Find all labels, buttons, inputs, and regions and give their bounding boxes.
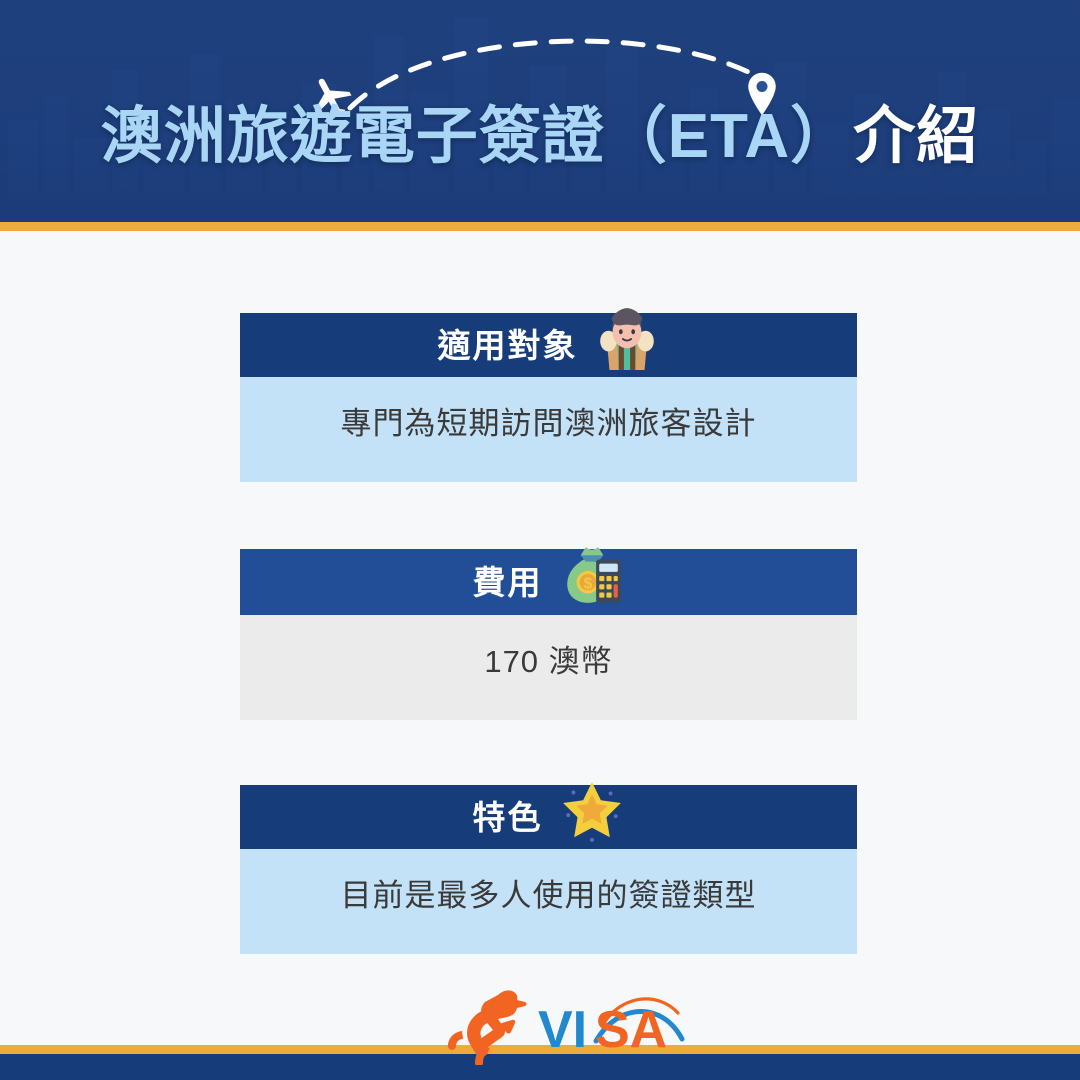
card-feature-body: 目前是最多人使用的簽證類型 (240, 849, 857, 954)
glowing-star-emoji (559, 778, 625, 844)
card-feature-body-text: 目前是最多人使用的簽證類型 (341, 875, 757, 917)
page-title-main: 澳洲旅遊電子簽證（ETA） (101, 102, 853, 171)
card-feature: 特色 目前是最多人使用 (240, 785, 857, 954)
card-fee-title: 費用 (473, 566, 543, 599)
dashed-route-icon (350, 41, 760, 108)
logo-wordmark-orange: SA (595, 1001, 667, 1059)
card-audience-body-text: 專門為短期訪問澳洲旅客設計 (341, 403, 757, 445)
card-audience-body: 專門為短期訪問澳洲旅客設計 (240, 377, 857, 482)
kangaroo-icon (448, 990, 527, 1065)
money-bag-calculator-emoji: $ (559, 543, 625, 609)
content-area: 適用對象 (0, 231, 1080, 1045)
brand-logo: VI SA (0, 979, 1080, 1065)
page-title-accent: 介紹 (853, 102, 979, 171)
page-title: 澳洲旅遊電子簽證（ETA）介紹 (0, 106, 1080, 168)
card-fee-body-text: 170 澳幣 (484, 641, 612, 683)
card-audience: 適用對象 (240, 313, 857, 482)
card-fee-header: 費用 $ (240, 549, 857, 615)
logo-wordmark-blue: VI (538, 1001, 587, 1059)
card-feature-title: 特色 (473, 801, 543, 834)
svg-text:$: $ (583, 575, 592, 592)
card-audience-title: 適用對象 (438, 329, 578, 362)
infographic-poster: 澳洲旅遊電子簽證（ETA）介紹 適用對象 (0, 0, 1080, 1080)
header-divider-rule (0, 222, 1080, 231)
card-fee: 費用 $ (240, 549, 857, 720)
header-banner: 澳洲旅遊電子簽證（ETA）介紹 (0, 0, 1080, 222)
card-fee-body: 170 澳幣 (240, 615, 857, 720)
card-feature-header: 特色 (240, 785, 857, 849)
backpacker-traveler-emoji (594, 306, 660, 372)
card-audience-header: 適用對象 (240, 313, 857, 377)
